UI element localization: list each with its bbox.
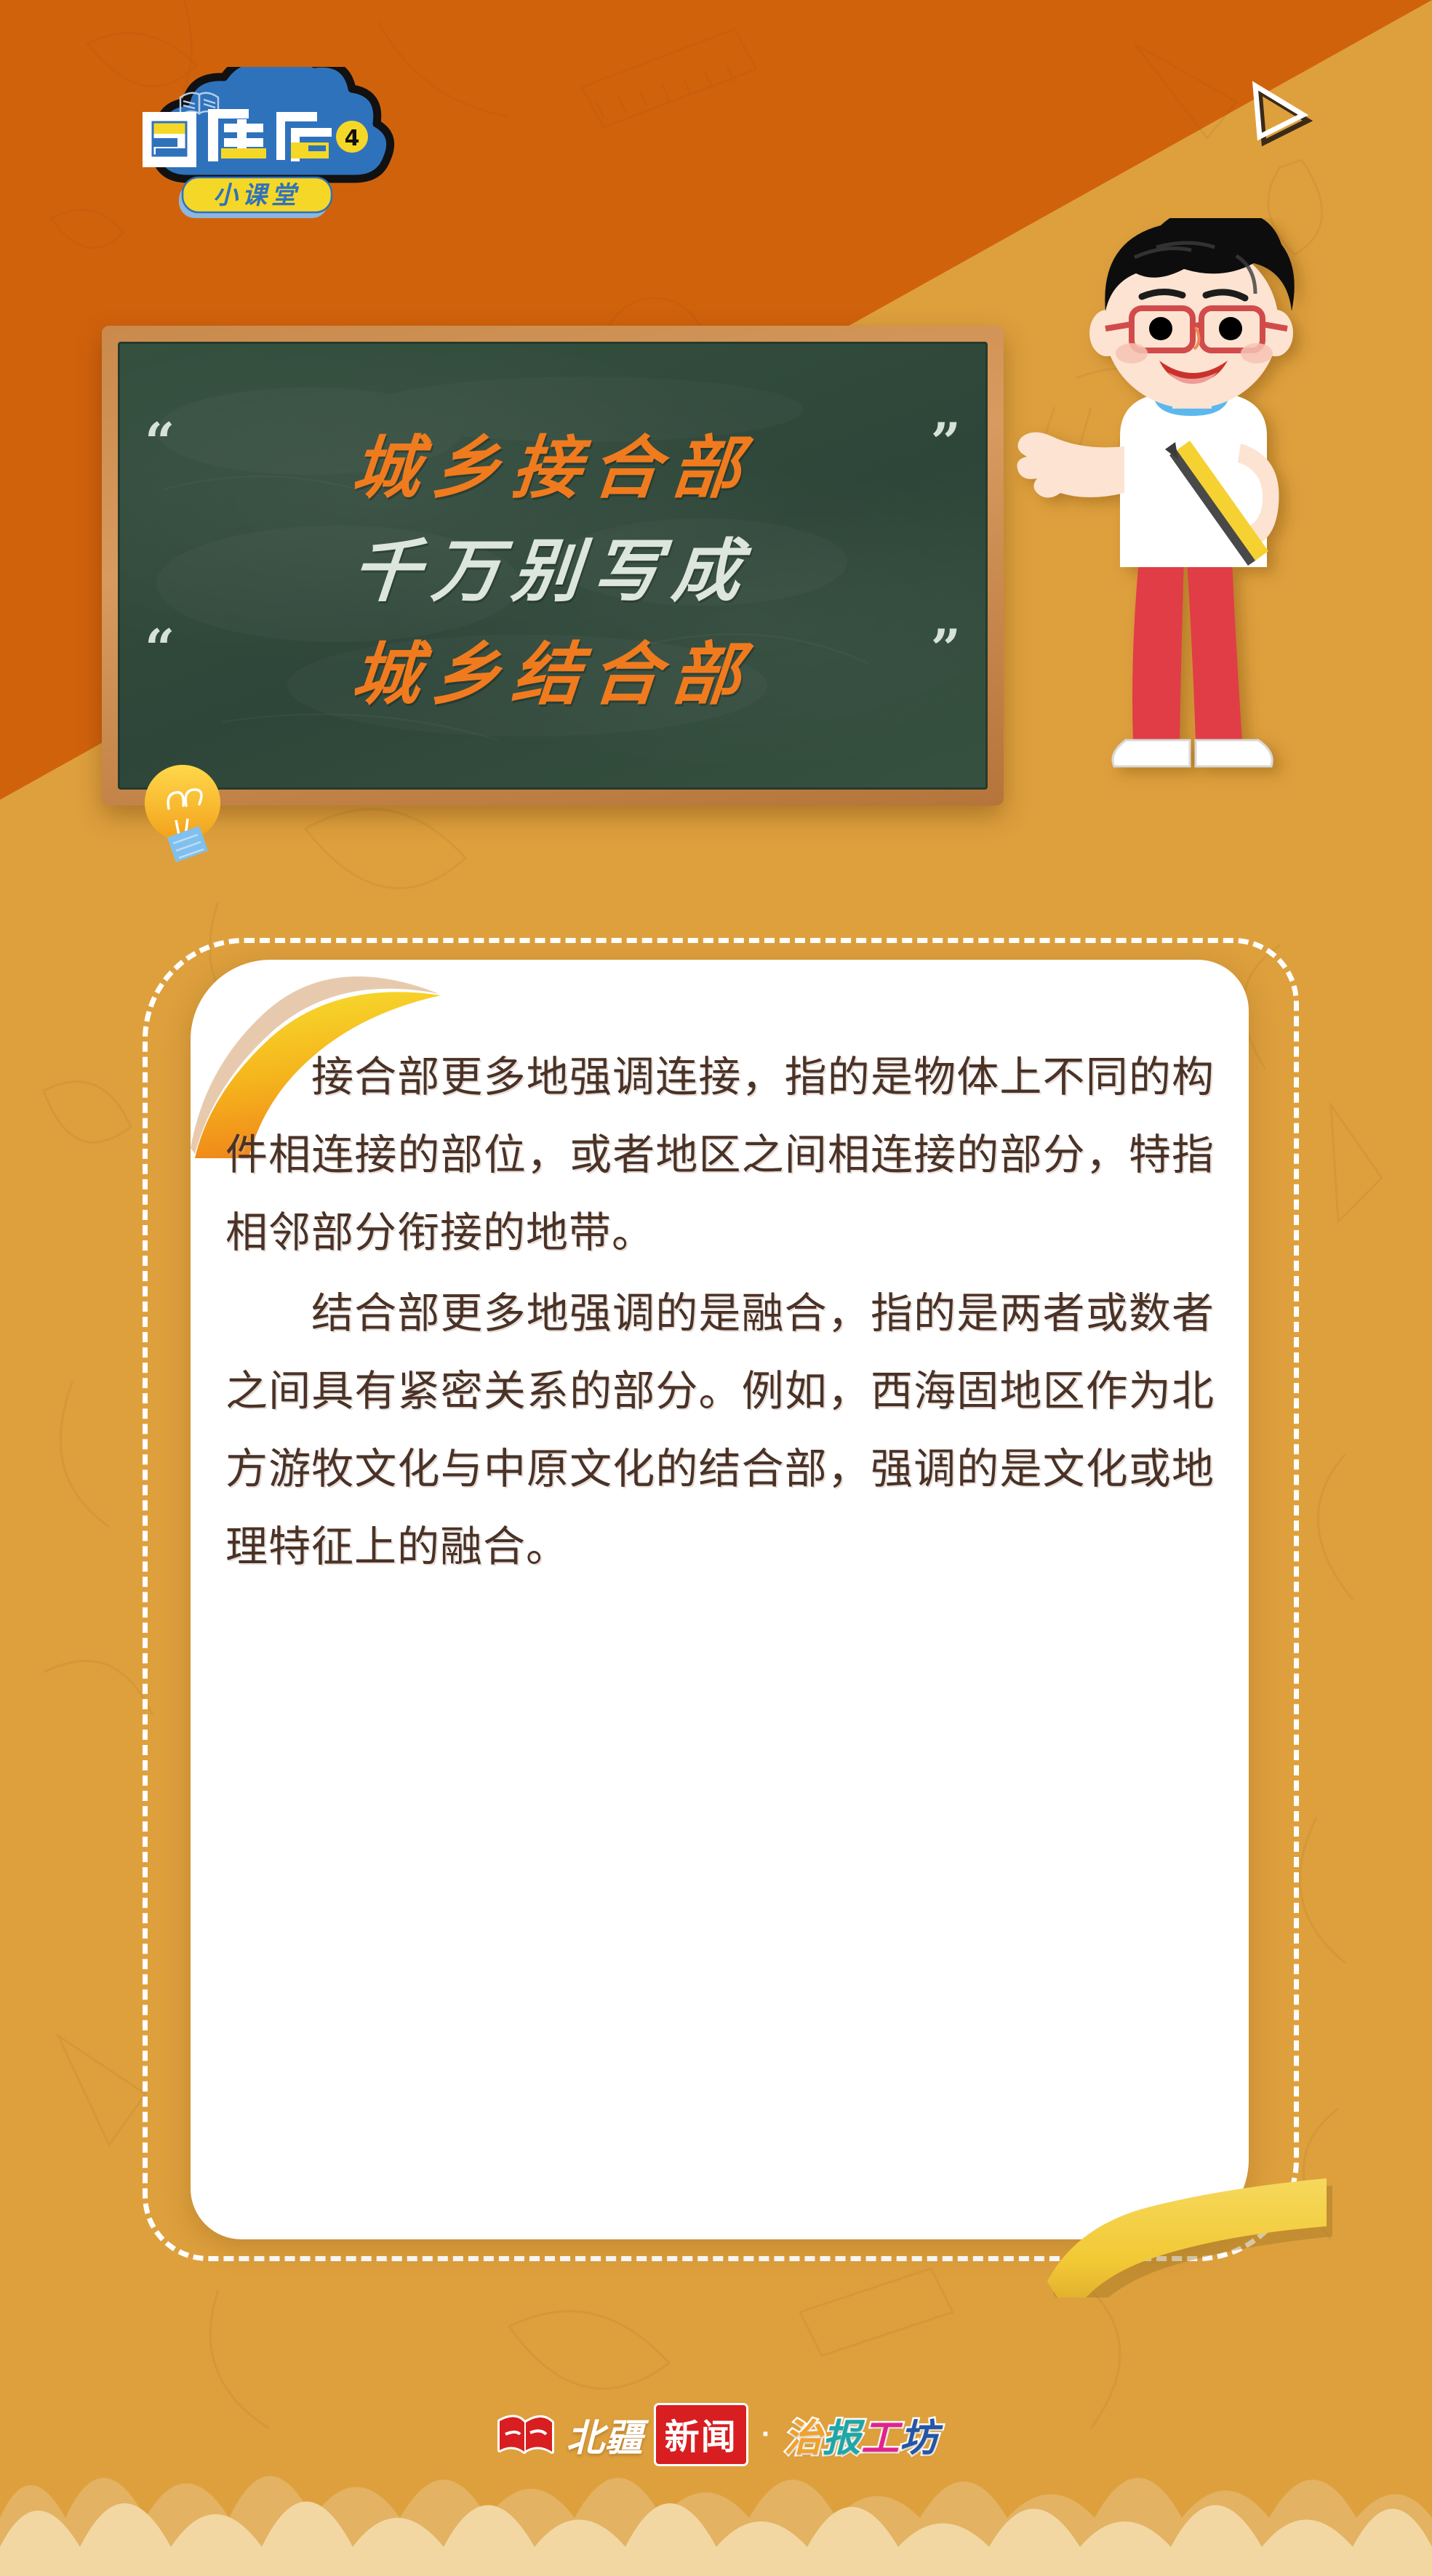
- play-triangle-icon: [1236, 70, 1316, 150]
- paragraph-2: 结合部更多地强调的是融合，指的是两者或数者之间具有紧密关系的部分。例如，西海固地…: [225, 1275, 1215, 1586]
- blackboard-line-1: “ 城乡接合部 ”: [120, 413, 985, 512]
- logo-subtitle-text: 小课堂: [213, 181, 300, 210]
- student-mascot: [1004, 218, 1345, 938]
- blackboard-text-2: 千万别写成: [348, 516, 757, 615]
- mascot-shoe-left: [1113, 740, 1190, 766]
- lightbulb-icon: [135, 756, 230, 876]
- program-logo: 4 小课堂: [93, 67, 399, 234]
- footer-studio-char-3: 工: [861, 2407, 900, 2462]
- footer-news-badge: 新闻: [654, 2403, 748, 2466]
- blackboard-surface: “ 城乡接合部 ” 千万别写成 “ 城乡结合部 ”: [118, 342, 988, 790]
- blackboard-text-1: 城乡接合部: [348, 413, 757, 512]
- quote-open-2: “: [145, 622, 175, 675]
- footer-studio-name: 治报工坊: [784, 2407, 938, 2462]
- mascot-eye-left: [1149, 317, 1172, 340]
- blackboard-text-3: 城乡结合部: [348, 619, 757, 718]
- footer-branding: 北疆 新闻 · 治报工坊: [0, 2391, 1432, 2478]
- quote-open-1: “: [145, 416, 175, 468]
- logo-char-1: [143, 112, 196, 167]
- card-text-body: 接合部更多地强调连接，指的是物体上不同的构件相连接的部位，或者地区之间相连接的部…: [225, 1038, 1215, 2202]
- footer-studio-char-2: 报: [823, 2407, 861, 2462]
- mascot-leg-left: [1132, 560, 1184, 742]
- blackboard-line-3: “ 城乡结合部 ”: [120, 619, 985, 718]
- footer-separator: ·: [761, 2418, 771, 2451]
- mascot-arm-left: [1017, 432, 1125, 497]
- flag-icon: [494, 2410, 556, 2459]
- mascot-leg-right: [1187, 560, 1242, 742]
- footer-brand-name: 北疆: [567, 2407, 644, 2462]
- blackboard-line-2: 千万别写成: [120, 516, 985, 615]
- quote-close-1: ”: [931, 416, 961, 468]
- quote-close-2: ”: [931, 622, 961, 675]
- mascot-eye-right: [1219, 317, 1242, 340]
- blackboard: “ 城乡接合部 ” 千万别写成 “ 城乡结合部 ”: [102, 326, 1004, 806]
- footer-studio-char-4: 坊: [900, 2407, 938, 2462]
- paragraph-1: 接合部更多地强调连接，指的是物体上不同的构件相连接的部位，或者地区之间相连接的部…: [225, 1038, 1215, 1272]
- footer-studio-char-1: 治: [784, 2407, 823, 2462]
- logo-subtitle-banner: 小课堂: [179, 177, 332, 218]
- mascot-shoe-right: [1196, 740, 1272, 766]
- episode-number: 4: [345, 126, 360, 151]
- episode-badge: 4: [336, 121, 368, 153]
